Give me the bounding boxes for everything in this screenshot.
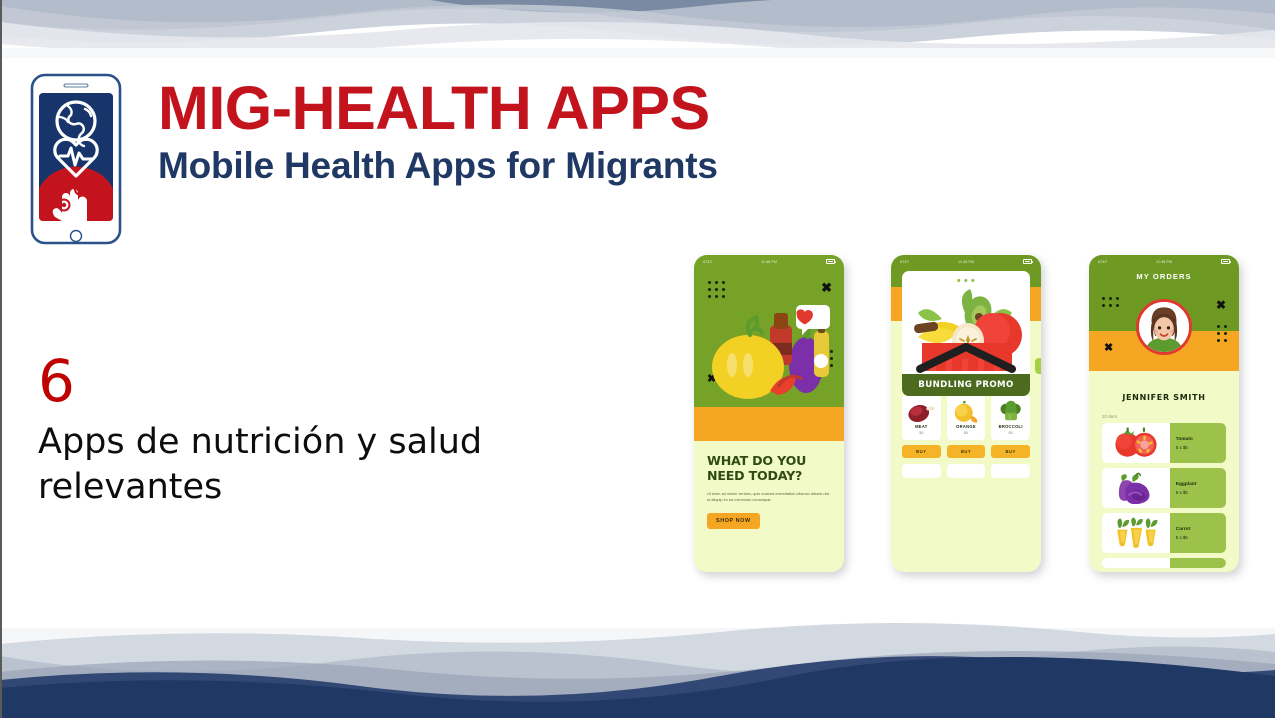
slide: MIG-HEALTH APPS Mobile Health Apps for M… [0, 0, 1275, 718]
section-heading: Apps de nutrición y salud relevantes [38, 420, 558, 510]
avatar[interactable] [1136, 299, 1192, 355]
carrot-icon [1102, 513, 1170, 553]
product-grid-next-row [902, 464, 1030, 478]
section-number: 6 [38, 352, 598, 410]
accent-band: BUNDLING PROMO [891, 287, 1041, 321]
buy-button[interactable]: BUY [947, 445, 986, 458]
x-decoration: ✖ [1216, 299, 1226, 311]
product-card[interactable] [947, 464, 986, 478]
promo-banner-label: BUNDLING PROMO [902, 374, 1030, 396]
product-card[interactable]: MEAT $5 [902, 395, 941, 440]
phone-mockup-my-orders: AT&T 11:48 PM MY ORDERS ✖ ✖ [1089, 255, 1239, 572]
content-block: 6 Apps de nutrición y salud relevantes [38, 352, 598, 510]
product-price: $5 [949, 431, 984, 435]
phone-mockup-onboarding: AT&T 11:48 PM ✖ ✖ [694, 255, 844, 572]
dot-decoration [957, 279, 974, 282]
battery-icon [1023, 259, 1032, 264]
bottom-wave-decoration [0, 598, 1275, 718]
groceries-illustration-icon [710, 291, 832, 407]
carrier-label: AT&T [1098, 260, 1107, 264]
brand-subtitle: Mobile Health Apps for Migrants [158, 147, 718, 186]
product-name: ORANGE [949, 424, 984, 429]
product-card[interactable] [902, 464, 941, 478]
promo-card[interactable]: BUNDLING PROMO [902, 271, 1030, 396]
clock-label: 11:48 PM [958, 260, 974, 264]
onboarding-heading: WHAT DO YOU NEED TODAY? [707, 453, 831, 484]
list-item[interactable]: Eggplant 5 x $5 [1102, 468, 1226, 508]
tomato-icon [1102, 423, 1170, 463]
product-card[interactable]: BROCCOLI $5 [991, 395, 1030, 440]
brand-logo-block: MIG-HEALTH APPS Mobile Health Apps for M… [30, 73, 718, 245]
eggplant-icon [1102, 468, 1170, 508]
category-chip-drink[interactable]: DR [1035, 358, 1041, 374]
battery-icon [826, 259, 835, 264]
order-item-qty: 5 x $5 [1176, 535, 1226, 540]
fruit-basket-illustration-icon [908, 285, 1024, 377]
order-item-meta [1170, 558, 1226, 568]
status-bar: AT&T 11:48 PM [891, 255, 1041, 268]
product-name: MEAT [904, 424, 939, 429]
status-bar: AT&T 11:48 PM [1089, 255, 1239, 268]
carrier-label: AT&T [900, 260, 909, 264]
phone-globe-heart-touch-logo-icon [30, 73, 122, 245]
list-item[interactable]: Tomato 5 x $5 [1102, 423, 1226, 463]
orange-icon [949, 399, 984, 424]
order-item-qty: 5 x $5 [1176, 490, 1226, 495]
buy-button-row: BUY BUY BUY [902, 445, 1030, 458]
order-item-image [1102, 558, 1170, 568]
product-price: $5 [904, 431, 939, 435]
order-item-name: Carrot [1176, 527, 1226, 532]
product-grid: MEAT $5 ORANGE $5 BROCCOLI [902, 395, 1030, 440]
order-item-qty: 5 x $5 [1176, 445, 1226, 450]
phone-mockup-categories: AT&T 11:48 PM CATEGORIES [891, 255, 1041, 572]
brand-title: MIG-HEALTH APPS [158, 77, 718, 139]
appbar-title-my-orders: MY ORDERS [1089, 268, 1239, 287]
dot-decoration [1102, 297, 1119, 307]
onboarding-paragraph: Ut enim ad minim veniam, quis nostrud ex… [707, 491, 831, 504]
carrier-label: AT&T [703, 260, 712, 264]
clock-label: 11:48 PM [761, 260, 777, 264]
battery-icon [1221, 259, 1230, 264]
list-item[interactable] [1102, 558, 1226, 568]
order-item-name: Tomato [1176, 437, 1226, 442]
buy-button[interactable]: BUY [991, 445, 1030, 458]
product-card[interactable]: ORANGE $5 [947, 395, 986, 440]
broccoli-icon [993, 399, 1028, 424]
accent-band [694, 407, 844, 441]
order-item-name: Eggplant [1176, 482, 1226, 487]
status-bar: AT&T 11:48 PM [694, 255, 844, 268]
buy-button[interactable]: BUY [902, 445, 941, 458]
meat-icon [904, 399, 939, 424]
list-item[interactable]: Carrot 5 x $5 [1102, 513, 1226, 553]
slide-left-border [0, 0, 2, 718]
shop-now-button[interactable]: SHOP NOW [707, 513, 760, 529]
user-name: JENNIFER SMITH [1089, 393, 1239, 402]
product-card[interactable] [991, 464, 1030, 478]
clock-label: 11:48 PM [1156, 260, 1172, 264]
product-price: $5 [993, 431, 1028, 435]
dot-decoration [1217, 325, 1227, 342]
x-decoration: ✖ [1104, 343, 1113, 354]
product-name: BROCCOLI [993, 424, 1028, 429]
top-wave-decoration [0, 0, 1275, 58]
order-list: Tomato 5 x $5 [1089, 419, 1239, 568]
